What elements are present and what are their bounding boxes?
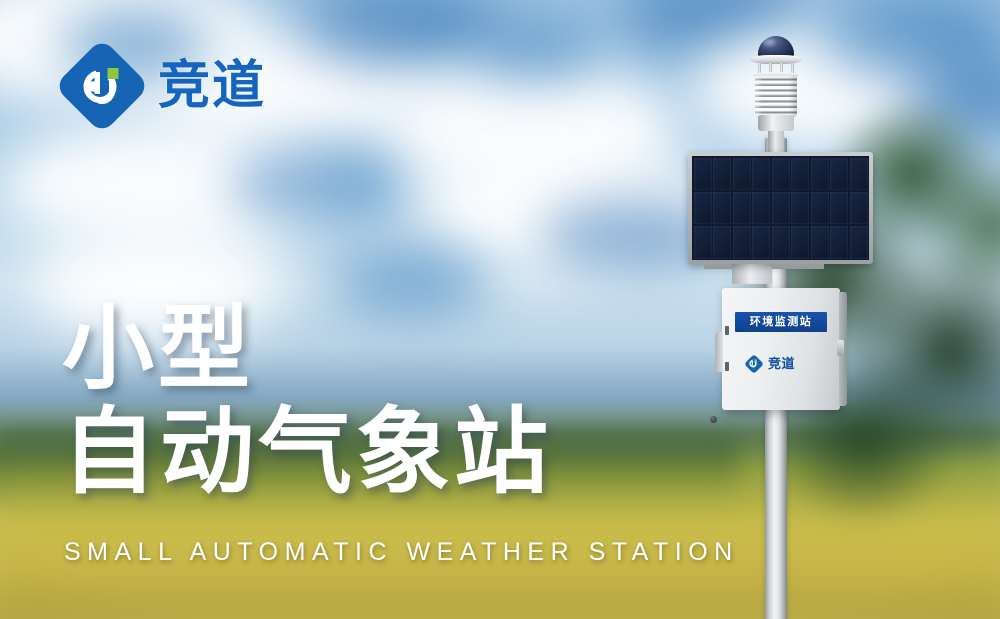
- solar-cell: [713, 226, 731, 259]
- solar-cell: [733, 226, 751, 259]
- solar-cell: [850, 158, 868, 191]
- solar-cell: [811, 158, 829, 191]
- solar-cell: [791, 192, 809, 225]
- jingdao-diamond-logo-icon: [744, 354, 763, 373]
- solar-cell: [752, 192, 770, 225]
- solar-panel-icon: [688, 152, 873, 264]
- jingdao-diamond-logo-icon: [60, 44, 144, 128]
- equipment-cabinet: 环境监测站 竞道: [722, 288, 840, 410]
- headline-line-1: 小型: [62, 300, 552, 399]
- solar-cell: [830, 192, 848, 225]
- solar-cell: [694, 158, 712, 191]
- solar-cell: [713, 192, 731, 225]
- solar-cell: [830, 158, 848, 191]
- cabinet-banner: 环境监测站: [735, 312, 827, 332]
- solar-cell: [830, 226, 848, 259]
- solar-cell: [752, 158, 770, 191]
- headline-subtitle: SMALL AUTOMATIC WEATHER STATION: [64, 538, 739, 567]
- solar-cell-grid: [692, 156, 869, 260]
- cabinet-hinge: [715, 332, 723, 372]
- radiation-shield-icon: [755, 75, 797, 117]
- solar-cell: [772, 158, 790, 191]
- sensor-base: [758, 115, 794, 131]
- cabinet-screw: [725, 362, 729, 371]
- solar-cell: [811, 226, 829, 259]
- solar-cell: [694, 226, 712, 259]
- solar-cell: [772, 226, 790, 259]
- solar-cell: [694, 192, 712, 225]
- mast-bolt: [710, 416, 717, 423]
- brand-logo[interactable]: 竞道: [60, 44, 266, 128]
- cabinet-screw: [725, 326, 729, 335]
- solar-cell: [733, 158, 751, 191]
- cabinet-brand-wordmark: 竞道: [768, 357, 795, 370]
- solar-cell: [791, 158, 809, 191]
- brand-wordmark: 竞道: [158, 60, 266, 112]
- solar-cell: [733, 192, 751, 225]
- logo-monogram-icon: [60, 44, 144, 128]
- cabinet-latch: [837, 340, 844, 356]
- cabinet-banner-label: 环境监测站: [750, 317, 813, 328]
- cabinet-brand-logo: 竞道: [744, 354, 795, 373]
- solar-cell: [772, 192, 790, 225]
- promo-banner: 竞道 小型 自动气象站 SMALL AUTOMATIC WEATHER STAT…: [0, 0, 1000, 619]
- cloud-shape: [470, 20, 600, 80]
- headline-line-2: 自动气象站: [62, 401, 552, 503]
- solar-cell: [811, 192, 829, 225]
- solar-cell: [752, 226, 770, 259]
- ultrasonic-weather-sensor-icon: [742, 36, 810, 144]
- cloud-shape: [230, 150, 400, 220]
- solar-cell: [791, 226, 809, 259]
- solar-cell: [713, 158, 731, 191]
- solar-cell: [850, 226, 868, 259]
- weather-station-device: 环境监测站 竞道: [660, 30, 920, 619]
- headline-block: 小型 自动气象站: [62, 300, 552, 503]
- solar-cell: [850, 192, 868, 225]
